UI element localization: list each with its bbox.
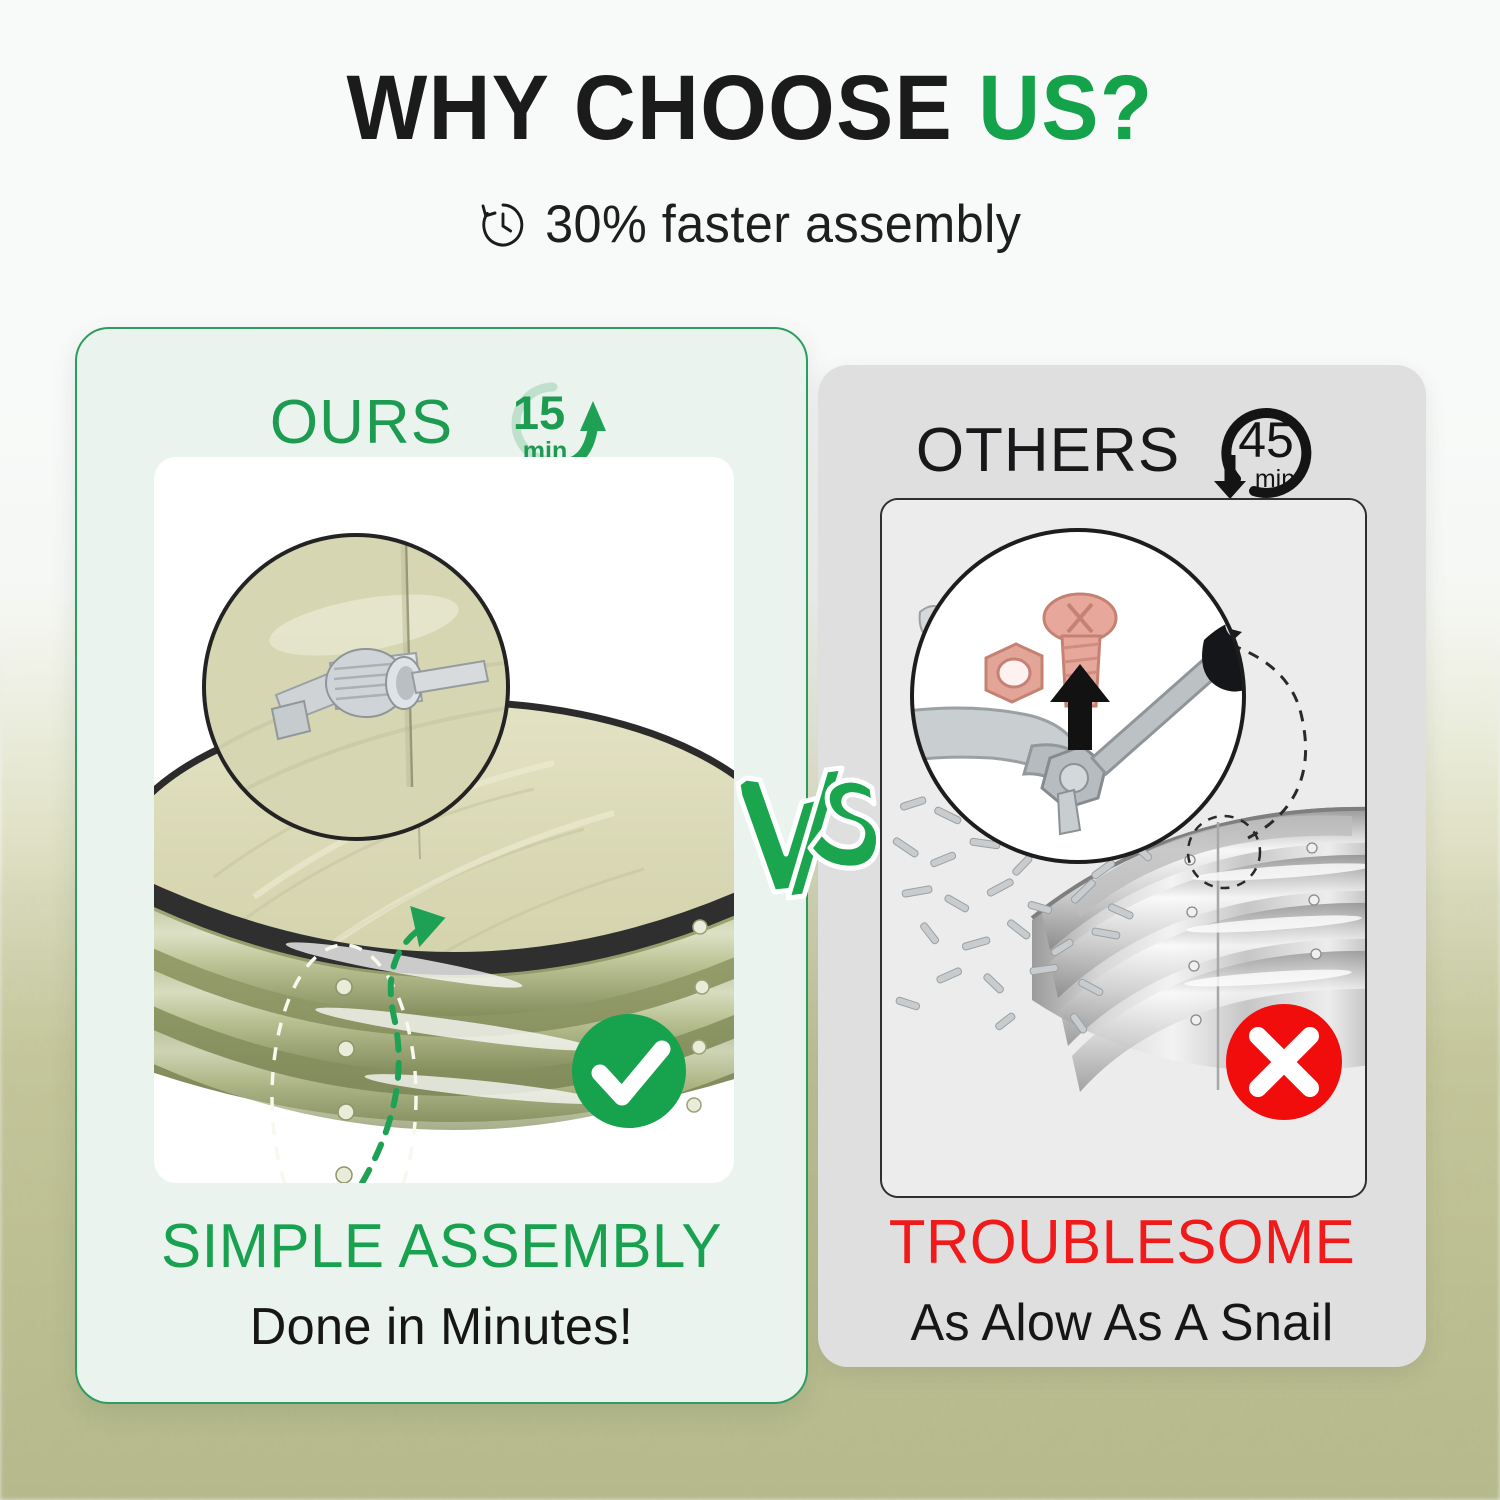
comparison-card-others: OTHERS 45 min bbox=[818, 365, 1426, 1367]
comparison-card-ours: OURS 15 min bbox=[75, 327, 808, 1404]
ours-label: OURS bbox=[270, 392, 453, 454]
ours-caption-title: SIMPLE ASSEMBLY bbox=[88, 1214, 795, 1279]
others-label: OTHERS bbox=[916, 420, 1180, 482]
green-raised-bed-illustration bbox=[154, 457, 734, 1183]
infographic-canvas: WHY CHOOSE US? 30% faster assembly OURS … bbox=[0, 0, 1500, 1500]
ours-caption: SIMPLE ASSEMBLY Done in Minutes! bbox=[77, 1214, 806, 1357]
page-title-accent: US? bbox=[978, 57, 1153, 159]
vs-divider-badge: VS bbox=[730, 762, 880, 902]
timer-badge-value: 15 bbox=[513, 386, 565, 439]
others-caption-subtitle: As Alow As A Snail bbox=[827, 1293, 1417, 1353]
ours-product-photo bbox=[154, 457, 734, 1183]
timer-badge-unit: min bbox=[1255, 465, 1295, 493]
others-caption-title: TROUBLESOME bbox=[827, 1210, 1417, 1275]
x-circle-icon bbox=[1226, 1004, 1342, 1120]
timer-badge-value: 45 bbox=[1238, 412, 1294, 468]
page-subtitle-text: 30% faster assembly bbox=[545, 194, 1021, 255]
clock-rotate-left-icon bbox=[479, 199, 528, 251]
timer-badge-45min: 45 min bbox=[1202, 399, 1328, 503]
check-circle-icon bbox=[572, 1014, 686, 1128]
ours-caption-subtitle: Done in Minutes! bbox=[88, 1297, 795, 1357]
others-caption: TROUBLESOME As Alow As A Snail bbox=[818, 1210, 1426, 1353]
others-product-photo bbox=[880, 498, 1367, 1198]
silver-raised-bed-illustration bbox=[882, 500, 1365, 1196]
page-title: WHY CHOOSE US? bbox=[53, 62, 1448, 154]
page-title-main: WHY CHOOSE bbox=[346, 57, 953, 159]
others-card-header: OTHERS 45 min bbox=[818, 399, 1426, 503]
header: WHY CHOOSE US? 30% faster assembly bbox=[0, 62, 1500, 255]
page-subtitle: 30% faster assembly bbox=[38, 194, 1463, 255]
